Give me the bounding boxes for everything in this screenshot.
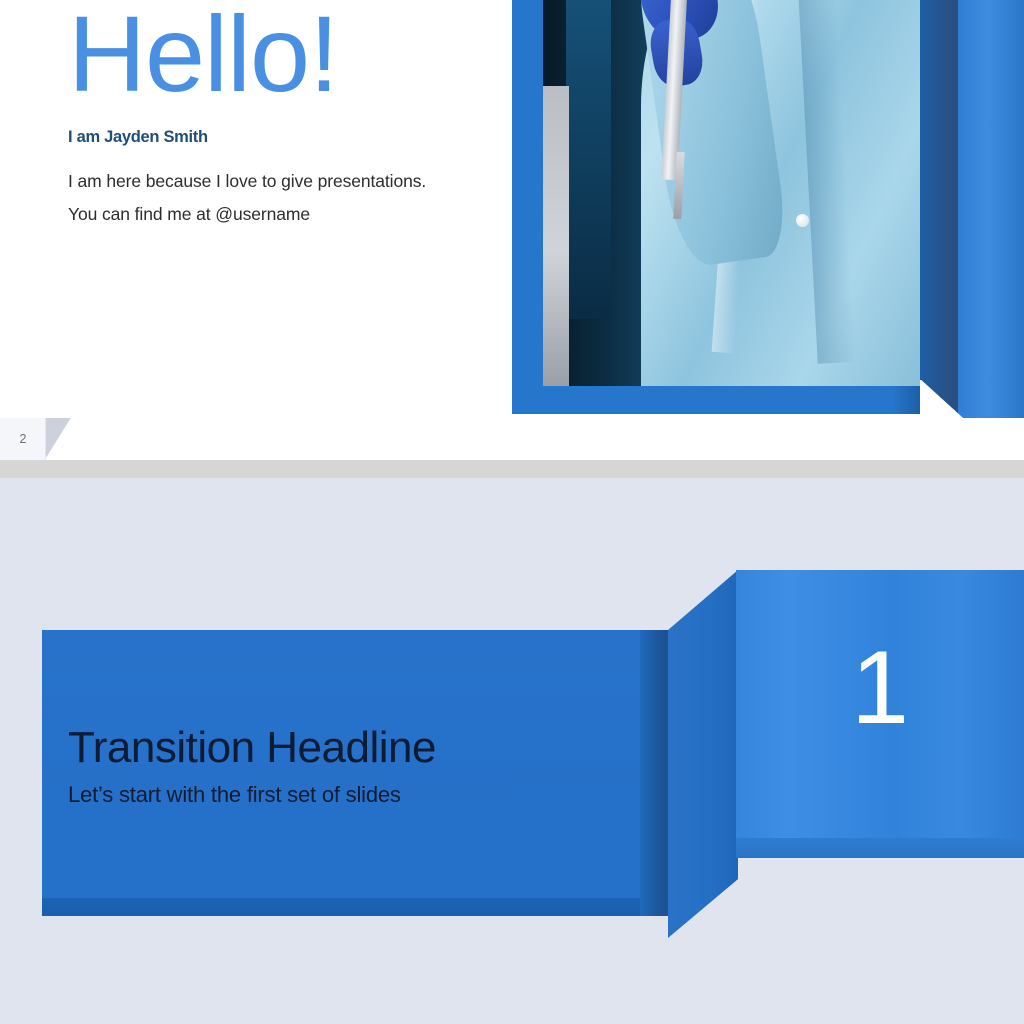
photo-gown-button (796, 214, 809, 227)
page-title: Hello! (68, 0, 498, 108)
slide-transition[interactable]: Transition Headline Let’s start with the… (0, 478, 1024, 1024)
slide-hello[interactable]: Hello! I am Jayden Smith I am here becau… (0, 0, 1024, 460)
slide-hello-text-block: Hello! I am Jayden Smith I am here becau… (68, 0, 498, 231)
lab-technician-photo (543, 0, 920, 386)
slide-hello-side-panel-bevel (920, 380, 964, 420)
transition-headline: Transition Headline (68, 723, 436, 773)
body-line-2: You can find me at @username (68, 204, 310, 224)
page-number-badge[interactable]: 2 (0, 418, 46, 460)
transition-left-block-shadow (42, 898, 670, 916)
transition-section-number: 1 (736, 636, 1024, 740)
slide-separator (0, 460, 1024, 478)
transition-connector-face (668, 570, 738, 938)
page-number-label: 2 (20, 432, 27, 446)
slide-hello-side-panel (958, 0, 1024, 418)
slide-deck-canvas: Hello! I am Jayden Smith I am here becau… (0, 0, 1024, 1024)
page-number-badge-fold (46, 418, 72, 460)
slide-hello-side-panel-shadow (920, 0, 958, 418)
transition-left-block-edge (640, 630, 670, 916)
transition-subtitle: Let’s start with the first set of slides (68, 782, 401, 808)
photo-lab-equipment-panel (566, 0, 611, 319)
presenter-name: I am Jayden Smith (68, 128, 498, 147)
body-line-1: I am here because I love to give present… (68, 171, 426, 191)
slide-hello-body: I am here because I love to give present… (68, 165, 498, 231)
transition-number-block-shadow (736, 838, 1024, 858)
photo-lab-equipment-column (543, 86, 569, 386)
